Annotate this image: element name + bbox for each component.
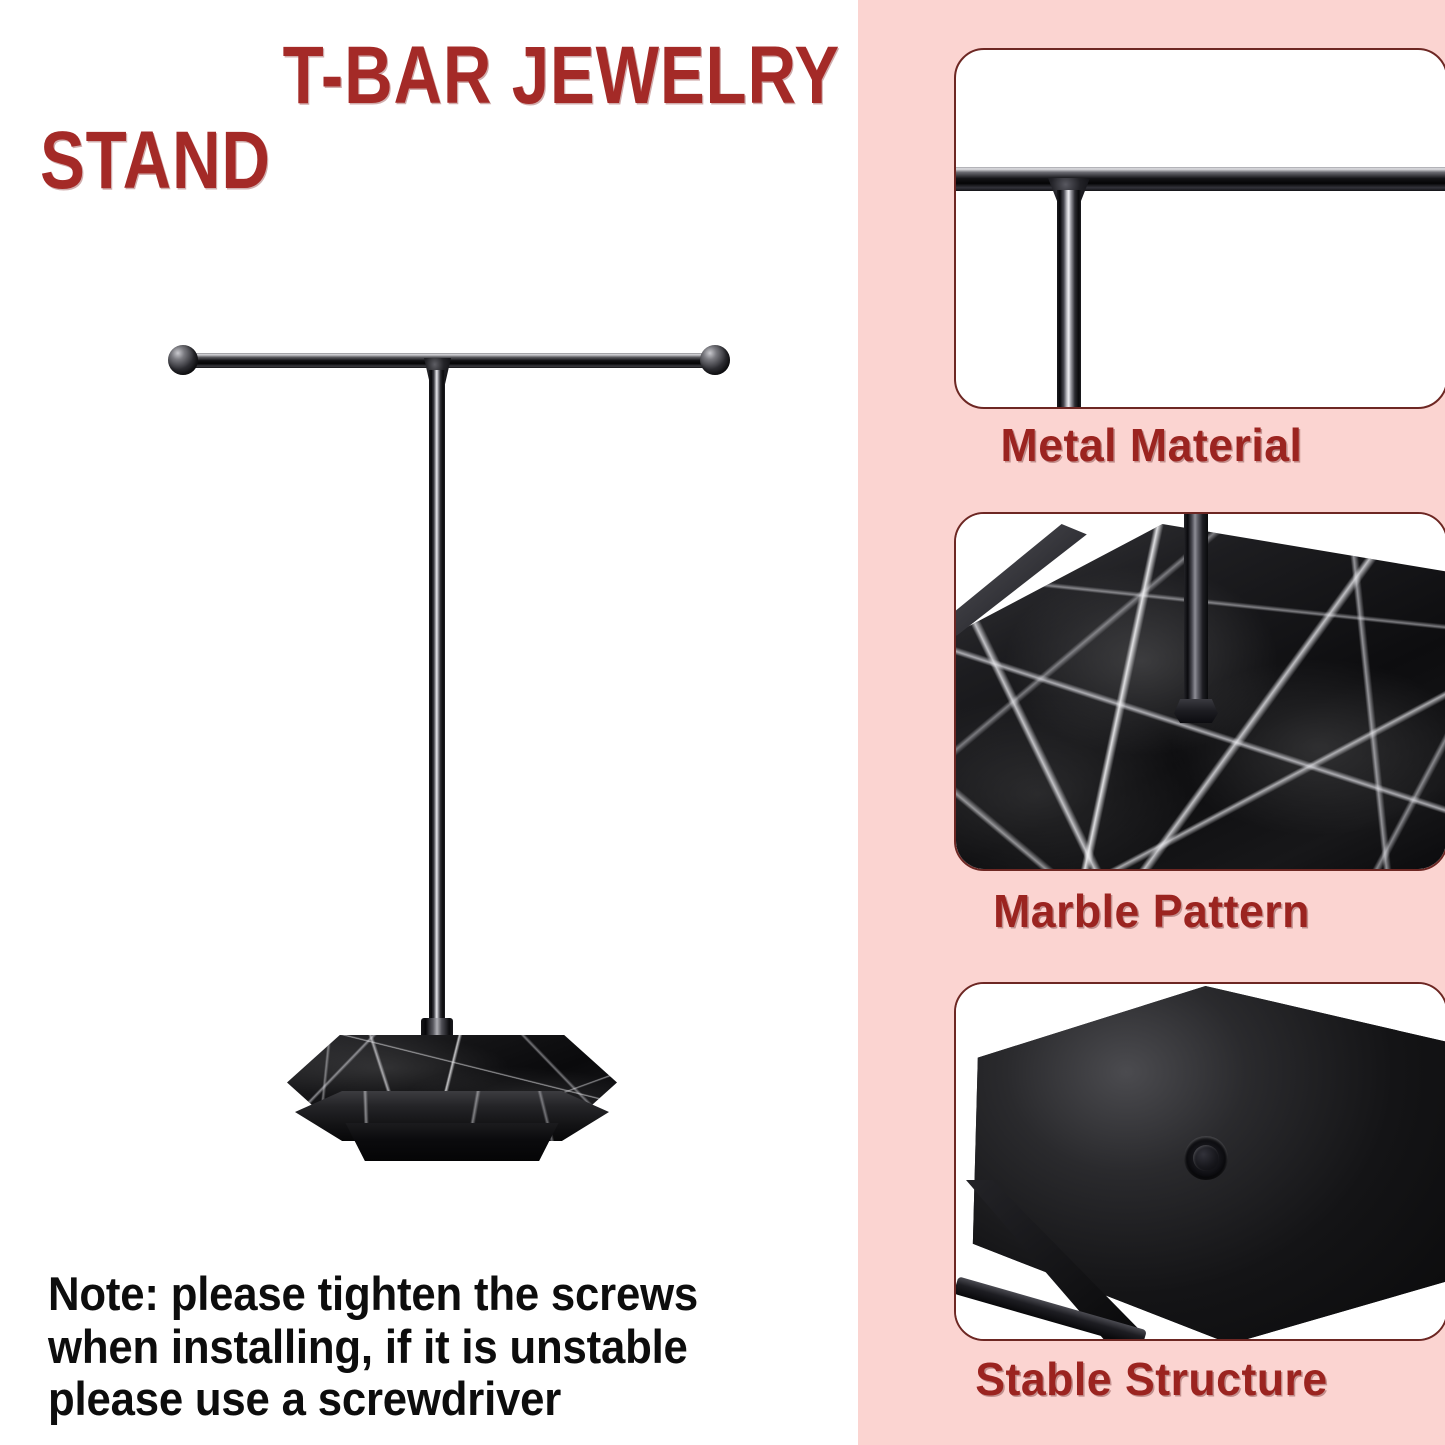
installation-note: Note: please tighten the screws when ins… [48, 1268, 838, 1426]
closeup-base-underside-scene [956, 984, 1445, 1339]
title-line-secondary: STAND [40, 123, 696, 198]
ball-finial-left-icon [168, 345, 198, 375]
vertical-post [429, 370, 445, 1035]
feature-label-marble-pattern: Marble Pattern [867, 884, 1436, 938]
closeup-pole [1184, 514, 1208, 714]
title-line-primary: T-BAR JEWELRY [184, 38, 840, 113]
page-title: T-BAR JEWELRY STAND [40, 38, 840, 199]
feature-card-marble-pattern [954, 512, 1445, 871]
screw-hole-inner [1193, 1145, 1219, 1171]
note-line: when installing, if it is unstable [48, 1321, 783, 1374]
t-bar-horizontal [182, 353, 728, 368]
feature-card-stable-structure [954, 982, 1445, 1341]
left-panel: T-BAR JEWELRY STAND Note: please tighten… [0, 0, 858, 1445]
closeup-pole-foot [1174, 699, 1218, 723]
closeup-horizontal-bar [954, 167, 1445, 191]
feature-card-metal-material [954, 48, 1445, 409]
product-infographic: T-BAR JEWELRY STAND Note: please tighten… [0, 0, 1445, 1445]
ball-finial-right-icon [700, 345, 730, 375]
product-illustration [0, 300, 858, 1200]
feature-label-metal-material: Metal Material [867, 418, 1436, 472]
feature-label-stable-structure: Stable Structure [867, 1352, 1436, 1406]
note-line: please use a screwdriver [48, 1373, 783, 1426]
screw-hole-icon [1184, 1136, 1228, 1180]
feature-panel: Metal Material Marble Pattern Stable Str… [858, 0, 1445, 1445]
note-line: Note: please tighten the screws [48, 1268, 783, 1321]
base-side-face [331, 1123, 573, 1161]
hexagonal-marble-base [287, 1035, 617, 1165]
closeup-vertical-post [1057, 190, 1081, 409]
closeup-marble-scene [956, 514, 1445, 869]
